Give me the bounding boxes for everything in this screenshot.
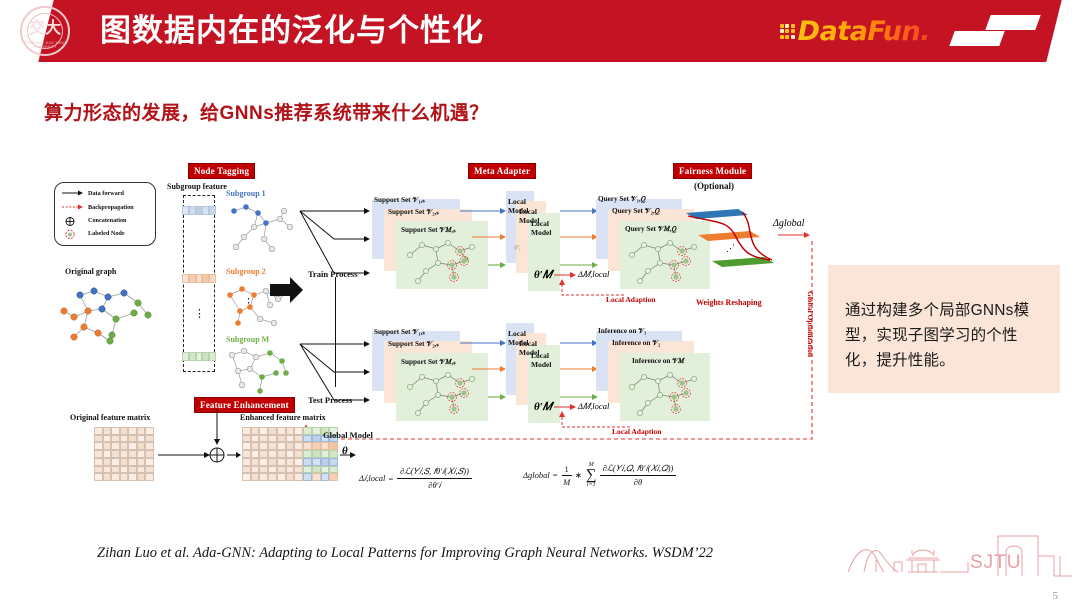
formula-local: Δ𝑖,local = ∂ℒ(𝑌𝑖,𝑆, 𝑓θ′𝑖(𝑋𝑖,𝑆)) ∂θ′𝑖: [358, 465, 473, 492]
vdots-feature: ⋮: [194, 312, 205, 316]
datafun-parallelogram-icon: [952, 12, 1038, 50]
legend-label-data-forward: Data forward: [88, 190, 124, 197]
page-title: 图数据内在的泛化与个性化: [100, 9, 484, 53]
label-local-model-m-train: Local Model: [531, 219, 557, 237]
formula-global-prefix-num: 1: [562, 464, 572, 476]
label-enhanced-feature-matrix: Enhanced feature matrix: [240, 413, 326, 422]
label-fairness-optional: (Optional): [694, 181, 734, 191]
labeled-node-icon: [62, 230, 84, 241]
label-local-model-m-test: Local Model: [531, 351, 557, 369]
label-subgroup-feature: Subgroup feature: [167, 182, 227, 191]
formula-local-numerator: ∂ℒ(𝑌𝑖,𝑆, 𝑓θ′𝑖(𝑋𝑖,𝑆)): [397, 466, 472, 479]
formula-global-denominator: ∂θ: [600, 476, 677, 487]
label-theta-prime-m-test: θ′𝑀: [534, 401, 552, 414]
label-original-feature-matrix: Original feature matrix: [70, 413, 150, 422]
feature-bar-subgroup-m: [182, 352, 216, 361]
label-support-set-2-train: Support Set 𝒱₂,ₛ: [388, 207, 439, 217]
label-global-model: Global Model: [323, 430, 373, 440]
paper-citation: Zihan Luo et al. Ada-GNN: Adapting to Lo…: [97, 545, 713, 562]
formula-global-eq: =: [552, 461, 561, 489]
label-fairness-module: Fairness Module: [673, 163, 752, 179]
insight-note-text: 通过构建多个局部GNNs模型，实现子图学习的个性化，提升性能。: [845, 298, 1045, 373]
formula-global-prefix-den: M: [562, 476, 572, 487]
formula-local-denominator: ∂θ′𝑖: [397, 479, 472, 491]
formula-local-eq: =: [387, 465, 396, 492]
formula-global-lhs: Δglobal: [522, 461, 552, 489]
solid-arrow-icon: [62, 190, 84, 198]
dashed-arrow-icon: [62, 204, 84, 212]
original-feature-matrix: [94, 427, 154, 481]
legend-label-labeled-node: Labeled Node: [88, 230, 125, 237]
matrix-to-concat-arrow: [158, 449, 212, 461]
label-query-set-1: Query Set 𝒱₁,𝑄: [598, 195, 646, 204]
feature-bar-subgroup-2: [182, 274, 216, 283]
seal-ring-text: SHANGHAI JIAO TONG UNIVERSITY: [22, 41, 68, 49]
page-number: 5: [1053, 590, 1059, 602]
sjtu-seal-logo: 交大 SHANGHAI JIAO TONG UNIVERSITY: [20, 6, 70, 56]
label-original-graph: Original graph: [65, 267, 116, 276]
slide-header: 交大 SHANGHAI JIAO TONG UNIVERSITY 图数据内在的泛…: [0, 0, 1080, 62]
svg-text:SJTU: SJTU: [970, 552, 1022, 573]
datafun-wordmark: DataFun.: [798, 16, 930, 47]
label-query-set-2: Query Set 𝒱₂,𝑄: [612, 207, 660, 216]
label-inference-1: Inference on 𝒱₁: [598, 327, 646, 336]
seal-glyph: 交大: [22, 21, 68, 37]
formula-global-sigma-bottom: i=1: [586, 482, 597, 488]
insight-note-panel: 通过构建多个局部GNNs模型，实现子图学习的个性化，提升性能。: [828, 265, 1060, 393]
header-right-notch: [1046, 0, 1080, 62]
label-meta-adapter: Meta Adapter: [468, 163, 536, 179]
sjtu-campus-skyline-logo: SJTU: [846, 532, 1074, 584]
figure-legend: Data forward Backpropagation Concatenati…: [54, 182, 156, 246]
circle-plus-icon: [62, 217, 84, 228]
legend-label-backpropagation: Backpropagation: [88, 204, 134, 211]
slide-subtitle: 算力形态的发展，给GNNs推荐系统带来什么机遇？: [44, 98, 489, 125]
test-to-inference-arrows: [560, 335, 600, 425]
architecture-figure: Node Tagging Meta Adapter Fairness Modul…: [40, 155, 830, 530]
label-support-set-1-train: Support Set 𝒱₁,ₛ: [374, 195, 425, 205]
formula-local-lhs: Δ𝑖,local: [358, 465, 387, 492]
label-local-adaption-test: Local Adaption: [612, 427, 661, 436]
label-theta-global: θ: [342, 445, 348, 457]
label-node-tagging: Node Tagging: [188, 163, 255, 179]
subgroup-feature-column: ⋮: [183, 195, 215, 372]
label-support-set-2-test: Support Set 𝒱₂,ₛ: [388, 339, 439, 349]
formula-global-sigma: ∑: [586, 468, 597, 482]
label-support-set-1-test: Support Set 𝒱₁,ₛ: [374, 327, 425, 337]
label-global-optimization: Global Optimization: [806, 291, 815, 357]
datafun-logo: DataFun.: [780, 13, 930, 49]
concatenation-operator-icon: [208, 445, 242, 465]
label-delta-global: Δglobal: [773, 218, 804, 229]
datafun-dots-icon: [780, 24, 795, 39]
formula-global: Δglobal = 1 M ∗ M ∑ i=1 ∂ℒ(𝑌𝑖,𝑄, 𝑓θ′𝑖(𝑋𝑖…: [522, 461, 677, 489]
feature-enhancement-down-arrow: [212, 409, 222, 447]
test-to-localmodel-arrows: [460, 335, 508, 425]
formula-global-star: ∗: [574, 461, 585, 489]
legend-label-concatenation: Concatenation: [88, 217, 127, 224]
label-inference-2: Inference on 𝒱₂: [612, 339, 660, 348]
formula-global-numerator: ∂ℒ(𝑌𝑖,𝑄, 𝑓θ′𝑖(𝑋𝑖,𝑄)): [600, 463, 677, 476]
inference-m-graph: [620, 365, 710, 421]
original-graph: [54, 279, 164, 351]
feature-bar-subgroup-1: [182, 206, 216, 215]
